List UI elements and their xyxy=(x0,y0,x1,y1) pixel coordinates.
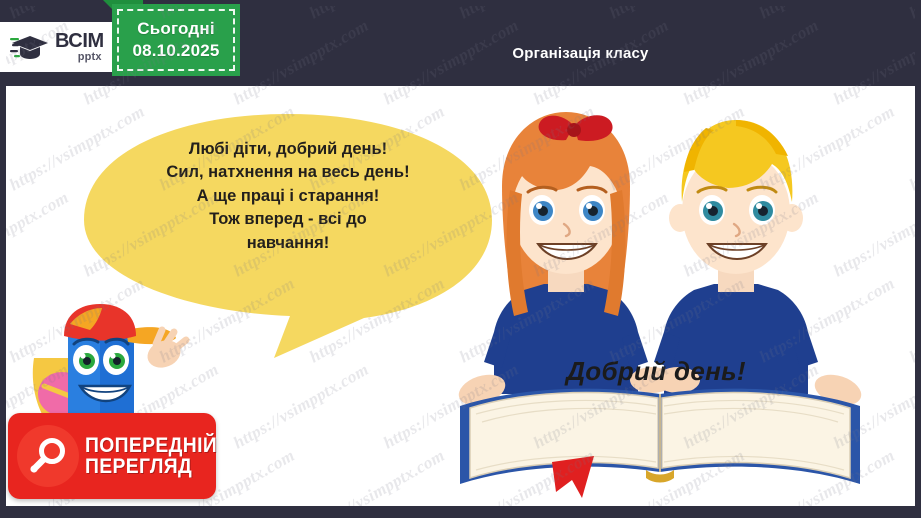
watermark-text: https://vsimpptx.com xyxy=(6,188,72,282)
preview-icon-circle xyxy=(17,425,79,487)
bubble-line-1: Любі діти, добрий день! xyxy=(78,138,498,161)
bubble-line-5: навчання! xyxy=(78,232,498,255)
speech-bubble-text: Любі діти, добрий день! Сил, натхнення н… xyxy=(78,138,498,255)
today-date-badge: Сьогодні 08.10.2025 xyxy=(112,4,240,76)
page-title: Організація класу xyxy=(512,45,648,62)
preview-line-1: ПОПЕРЕДНІЙ xyxy=(85,435,217,456)
slide-title-bar: Організація класу xyxy=(248,34,913,72)
bubble-line-3: А ще праці і старання! xyxy=(78,185,498,208)
brand-suffix: pptx xyxy=(78,52,104,63)
watermark-text: https://vsimpptx.com xyxy=(230,360,372,454)
boy-character xyxy=(654,120,818,394)
brand-logo[interactable]: ВСІМ pptx xyxy=(0,22,126,72)
preview-line-2: ПЕРЕГЛЯД xyxy=(85,456,217,477)
book-greeting-text: Добрий день! xyxy=(506,356,806,387)
magnifier-icon xyxy=(28,436,68,476)
today-label: Сьогодні xyxy=(137,19,215,39)
slide-header-bar: ВСІМ pptx Сьогодні 08.10.2025 Організаці… xyxy=(0,0,921,86)
brand-name: ВСІМ xyxy=(55,31,104,51)
preview-badge[interactable]: ПОПЕРЕДНІЙ ПЕРЕГЛЯД xyxy=(8,413,216,499)
today-date: 08.10.2025 xyxy=(132,41,219,61)
open-book xyxy=(460,389,860,498)
graduation-cap-icon xyxy=(10,32,50,62)
bookmark-ribbon-icon xyxy=(552,456,594,498)
bubble-line-2: Сил, натхнення на весь день! xyxy=(78,161,498,184)
bubble-line-4: Тож вперед - всі до xyxy=(78,208,498,231)
girl-character xyxy=(484,112,648,394)
brand-logo-words: ВСІМ pptx xyxy=(55,31,104,63)
preview-badge-labels: ПОПЕРЕДНІЙ ПЕРЕГЛЯД xyxy=(85,435,229,478)
presentation-slide: Любі діти, добрий день! Сил, натхнення н… xyxy=(0,0,921,518)
